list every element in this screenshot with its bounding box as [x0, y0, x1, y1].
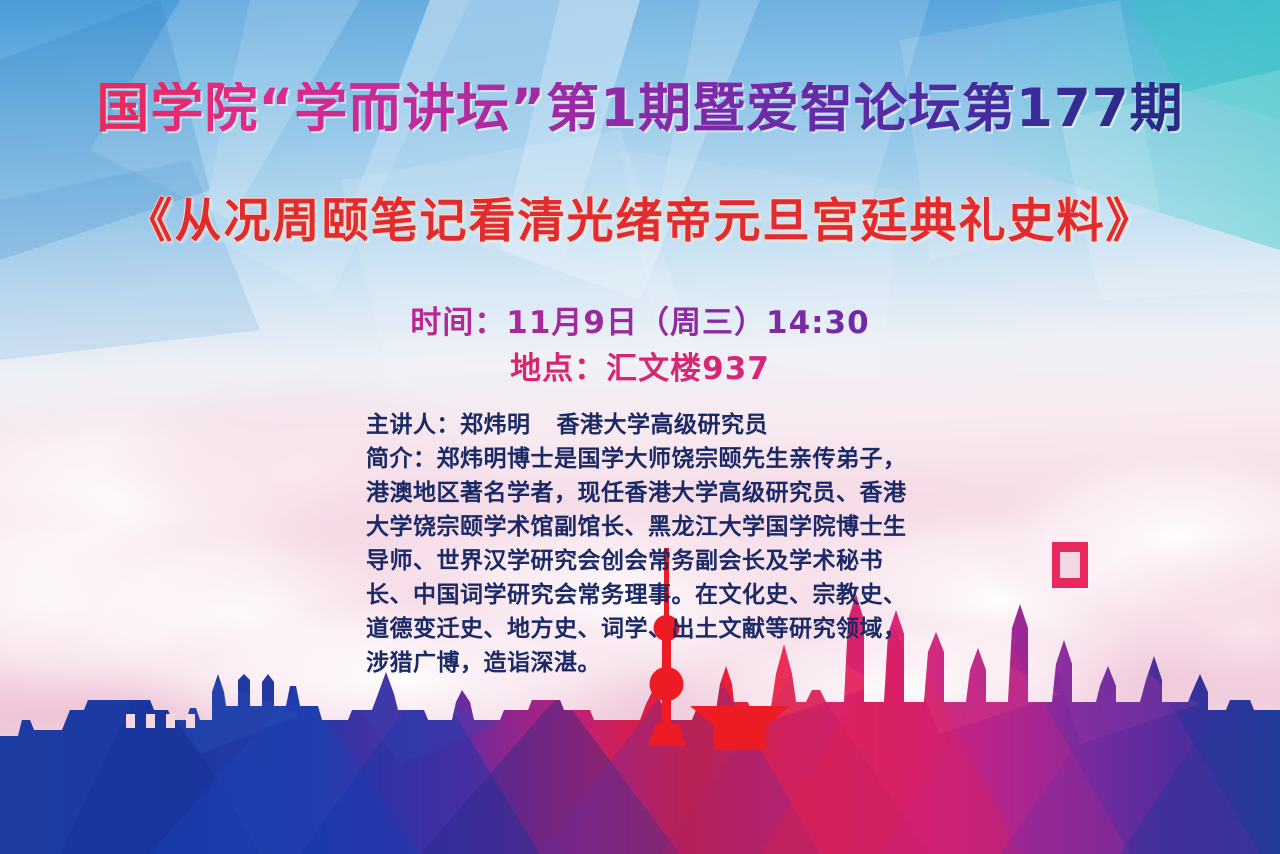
speaker-details: 主讲人：郑炜明香港大学高级研究员 简介：郑炜明博士是国学大师饶宗颐先生亲传弟子，…	[366, 408, 922, 680]
event-place-line: 地点：汇文楼937	[0, 346, 1280, 392]
speaker-affiliation: 香港大学高级研究员	[557, 411, 769, 438]
poster-content: 国学院“学而讲坛”第1期暨爱智论坛第177期 《从况周颐笔记看清光绪帝元旦宫廷典…	[0, 0, 1280, 854]
speaker-label: 主讲人：	[366, 411, 460, 438]
speaker-name: 郑炜明	[460, 411, 531, 438]
lecture-subtitle: 《从况周颐笔记看清光绪帝元旦宫廷典礼史料》	[0, 198, 1280, 245]
event-time-line: 时间：11月9日（周三）14:30	[0, 300, 1280, 346]
page-title: 国学院“学而讲坛”第1期暨爱智论坛第177期	[0, 82, 1280, 135]
event-meta: 时间：11月9日（周三）14:30 地点：汇文楼937	[0, 300, 1280, 392]
speaker-line: 主讲人：郑炜明香港大学高级研究员	[366, 408, 922, 442]
speaker-bio: 简介：郑炜明博士是国学大师饶宗颐先生亲传弟子，港澳地区著名学者，现任香港大学高级…	[366, 442, 922, 680]
event-poster: 国学院“学而讲坛”第1期暨爱智论坛第177期 《从况周颐笔记看清光绪帝元旦宫廷典…	[0, 0, 1280, 854]
